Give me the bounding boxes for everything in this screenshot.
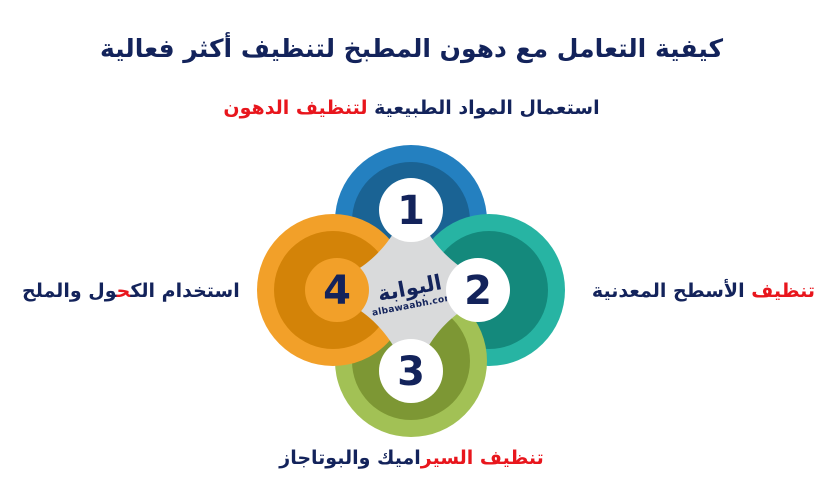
step-badge-3[interactable]: 3	[379, 339, 443, 403]
label-step-4: استخدام الكحول والملح	[22, 279, 240, 304]
step-badge-1[interactable]: 1	[379, 178, 443, 242]
label-step-2-highlight: تنظيف	[745, 280, 815, 302]
label-step-2: تنظيف الأسطح المعدنية	[592, 279, 815, 304]
label-step-4-highlight: ح	[117, 280, 131, 302]
label-step-3-highlight: تنظيف السير	[421, 447, 544, 469]
label-step-1-highlight: لتنظيف الدهون	[223, 97, 367, 119]
label-step-4-plain-b: ول والملح	[22, 280, 117, 302]
label-step-1: استعمال المواد الطبيعية لتنظيف الدهون	[0, 96, 823, 121]
label-step-3: تنظيف السيراميك والبوتاجاز	[0, 446, 823, 471]
step-badge-2-number: 2	[464, 268, 492, 314]
step-badge-3-number: 3	[397, 349, 425, 395]
step-badge-2[interactable]: 2	[446, 258, 510, 322]
infographic-canvas: كيفية التعامل مع دهون المطبخ لتنظيف أكثر…	[0, 0, 823, 497]
page-title: كيفية التعامل مع دهون المطبخ لتنظيف أكثر…	[0, 33, 823, 64]
step-badge-4[interactable]: 4	[305, 258, 369, 322]
step-badge-4-number: 4	[323, 268, 351, 314]
step-badge-1-number: 1	[397, 188, 425, 234]
label-step-1-plain: استعمال المواد الطبيعية	[367, 97, 599, 119]
label-step-3-plain: اميك والبوتاجاز	[279, 447, 421, 469]
label-step-4-plain-a: استخدام الك	[130, 280, 239, 302]
four-step-wheel-diagram: البوابة albawaabh.com 1 2 3 4	[246, 135, 576, 445]
label-step-2-plain: الأسطح المعدنية	[592, 280, 745, 302]
